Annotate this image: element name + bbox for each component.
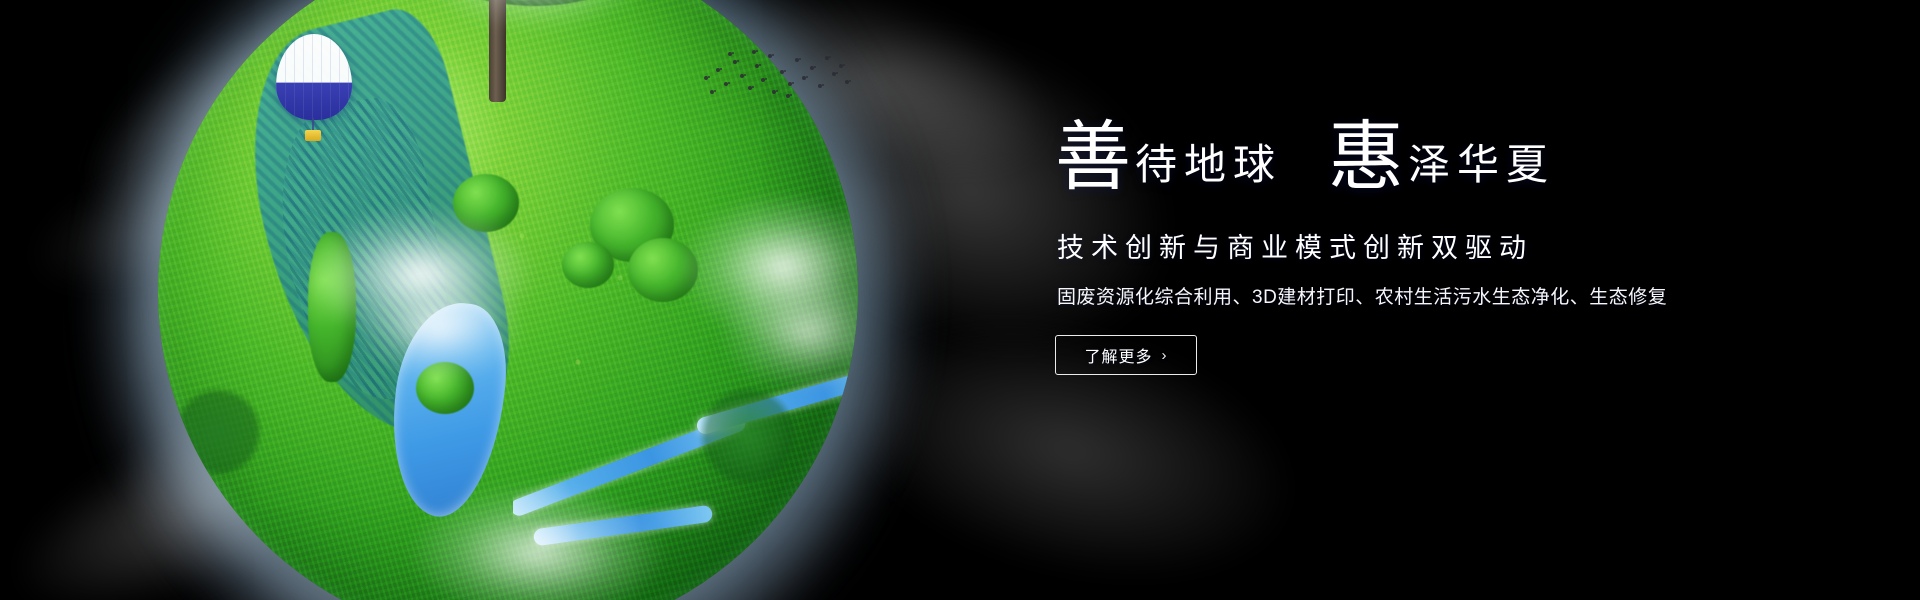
balloon-basket (305, 130, 321, 141)
headline: 善 待地球 惠 泽华夏 (1055, 120, 1815, 216)
learn-more-button[interactable]: 了解更多 › (1055, 335, 1197, 375)
rim-tree (166, 372, 296, 522)
hero-banner: 善 待地球 惠 泽华夏 技术创新与商业模式创新双驱动 固废资源化综合利用、3D建… (0, 0, 1920, 600)
bush-clump (562, 242, 614, 288)
globe-cloud (408, 482, 668, 600)
hot-air-balloon-icon (276, 34, 352, 142)
chevron-right-icon: › (1162, 348, 1168, 363)
bird-flock-icon (700, 46, 850, 100)
headline-part-2: 泽华夏 (1408, 145, 1555, 187)
globe-cloud (420, 0, 650, 32)
balloon-envelope (276, 34, 352, 120)
learn-more-label: 了解更多 (1084, 343, 1152, 367)
headline-part-1: 待地球 (1135, 145, 1282, 187)
globe-cloud (354, 272, 524, 382)
headline-char-1: 善 (1055, 120, 1131, 196)
bush-clump (590, 188, 674, 262)
headline-char-2: 惠 (1328, 120, 1404, 196)
banner-content: 善 待地球 惠 泽华夏 技术创新与商业模式创新双驱动 固废资源化综合利用、3D建… (1055, 120, 1815, 375)
subtitle: 技术创新与商业模式创新双驱动 (1057, 226, 1815, 265)
description: 固废资源化综合利用、3D建材打印、农村生活污水生态净化、生态修复 (1057, 282, 1815, 309)
rim-tree (664, 372, 814, 532)
